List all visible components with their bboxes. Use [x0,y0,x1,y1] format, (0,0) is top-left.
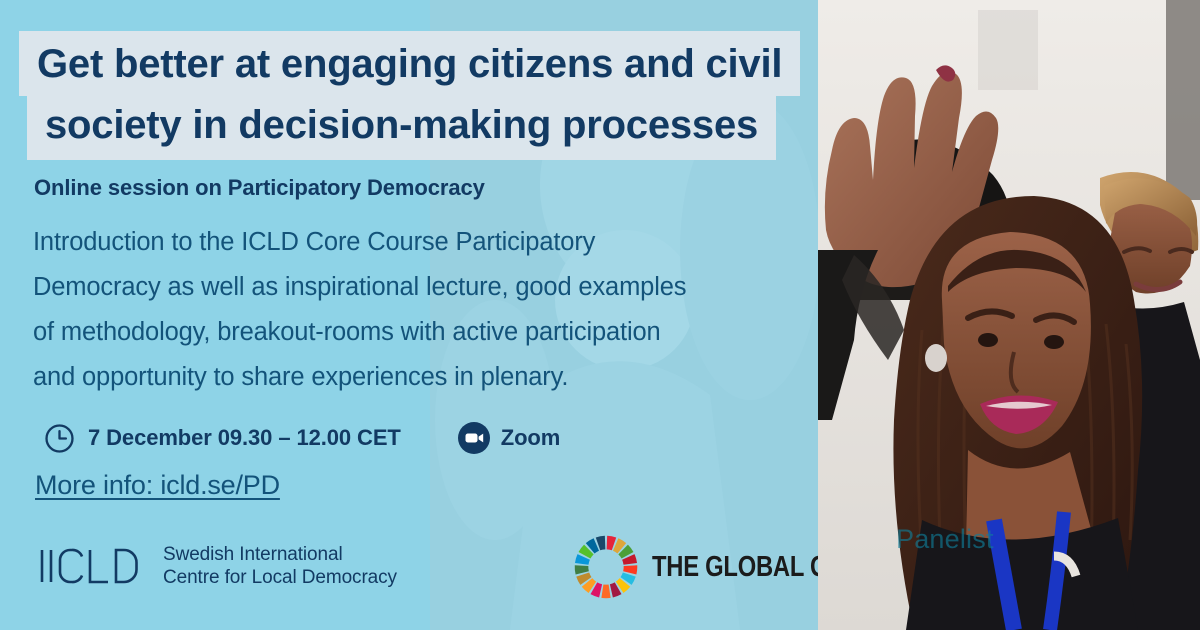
event-datetime: 7 December 09.30 – 12.00 CET [44,423,401,454]
event-platform-label: Zoom [501,425,560,451]
event-photo: Panelist [818,0,1200,630]
icld-wordmark-line-2: Centre for Local Democracy [163,566,397,589]
title-line-1: Get better at engaging citizens and civi… [19,31,800,96]
promo-poster: Get better at engaging citizens and civi… [0,0,1200,630]
icld-wordmark-line-1: Swedish International [163,543,397,566]
body-line: Introduction to the ICLD Core Course Par… [33,220,818,265]
body-copy: Introduction to the ICLD Core Course Par… [33,220,818,400]
event-meta-row: 7 December 09.30 – 12.00 CET Zoom [44,418,560,458]
icld-logo: Swedish International Centre for Local D… [38,543,397,589]
event-platform: Zoom [458,422,560,454]
content-panel: Get better at engaging citizens and civi… [0,0,818,630]
body-line: and opportunity to share experiences in … [33,355,818,400]
video-camera-icon [458,422,490,454]
icld-wordmark: Swedish International Centre for Local D… [163,543,397,589]
more-info-link[interactable]: More info: icld.se/PD [35,470,280,501]
subtitle: Online session on Participatory Democrac… [34,175,485,201]
title-line-2: society in decision-making processes [27,96,776,160]
clock-icon [44,423,75,454]
event-datetime-label: 7 December 09.30 – 12.00 CET [88,425,401,451]
body-line: Democracy as well as inspirational lectu… [33,265,818,310]
global-goals-logo: THE GLOBAL GOALS [572,533,818,601]
body-line: of methodology, breakout-rooms with acti… [33,310,818,355]
sdg-color-wheel-icon [572,533,640,601]
icld-logomark-icon [38,543,150,589]
global-goals-wordmark: THE GLOBAL GOALS [652,551,818,584]
page-title: Get better at engaging citizens and civi… [0,31,818,160]
